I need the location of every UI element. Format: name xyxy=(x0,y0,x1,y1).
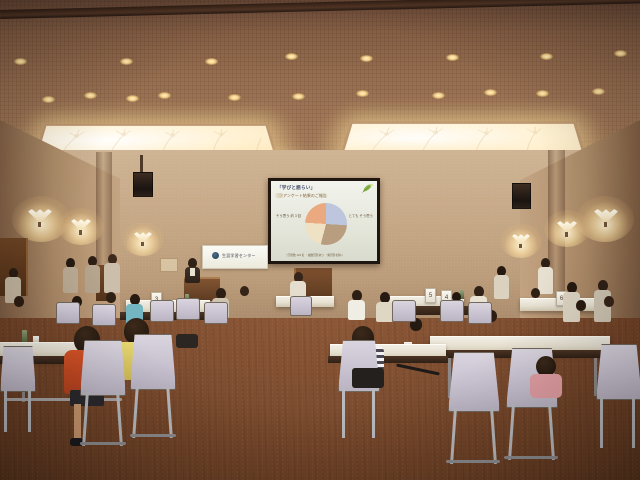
banquet-chair xyxy=(150,300,174,322)
sconce-stem xyxy=(38,222,41,227)
chair-frame xyxy=(4,388,7,432)
banquet-chair xyxy=(130,334,176,390)
banquet-chair xyxy=(56,302,80,324)
downlight xyxy=(84,92,97,99)
banquet-chair xyxy=(204,302,228,324)
seated-attendee-torso xyxy=(376,302,393,322)
downlight xyxy=(360,55,373,62)
banner-text: 生涯学習センター xyxy=(222,253,256,259)
chair-foot-rail xyxy=(446,460,500,463)
pie-chart xyxy=(305,203,347,245)
chair-frame xyxy=(28,388,31,432)
chair-foot-rail xyxy=(130,434,176,437)
banquet-chair xyxy=(176,298,200,320)
speaker-mount xyxy=(140,155,143,173)
seated-attendee-torso xyxy=(530,374,562,398)
chair-foot-rail xyxy=(504,456,558,459)
downlight xyxy=(484,89,497,96)
projection-screen[interactable]: 「学びと語らい」 アンケート結果のご報告 そう思う 約 3 割 とても そう思う… xyxy=(268,178,380,264)
downlight xyxy=(42,96,55,103)
seated-attendee-torso xyxy=(348,300,365,320)
right-wall-speaker xyxy=(512,183,531,209)
banquet-chair xyxy=(392,300,416,322)
slide-subtitle: アンケート結果のご報告 xyxy=(283,193,327,199)
chair-frame xyxy=(632,396,635,448)
table-leg xyxy=(594,358,597,396)
seated-attendee-head xyxy=(576,300,586,311)
sconce-stem xyxy=(79,230,82,235)
banquet-chair xyxy=(290,296,312,316)
downlight xyxy=(356,90,369,97)
downlight xyxy=(536,90,549,97)
standing-attendee-torso xyxy=(85,265,100,293)
chair-frame xyxy=(342,388,345,438)
standing-attendee-torso xyxy=(538,267,553,294)
pie-chart-disc xyxy=(305,203,347,245)
downlight xyxy=(446,54,459,61)
banquet-chair xyxy=(0,346,36,392)
presenter-shirt xyxy=(190,268,195,276)
banquet-chair xyxy=(80,340,126,396)
downlight xyxy=(285,53,298,60)
downlight xyxy=(228,94,241,101)
downlight xyxy=(592,88,605,95)
sconce-stem xyxy=(141,242,144,246)
projection-screen-surface: 「学びと語らい」 アンケート結果のご報告 そう思う 約 3 割 とても そう思う… xyxy=(271,181,377,261)
banquet-chair xyxy=(468,302,492,324)
seated-attendee-head xyxy=(604,296,614,307)
seated-attendee-head xyxy=(106,292,116,303)
downlight xyxy=(126,95,139,102)
sconce-stem xyxy=(565,232,568,237)
slide-footnotes: ・回答数 123 名 ・複数回答あり ・無回答を除く xyxy=(285,254,344,258)
downlight xyxy=(158,92,171,99)
downlight xyxy=(14,58,27,65)
standing-attendee-torso xyxy=(104,263,120,293)
downlight xyxy=(540,53,553,60)
slide-bullet-shape xyxy=(275,193,283,198)
left-ceiling-speaker xyxy=(133,172,153,197)
downlight xyxy=(205,58,218,65)
standing-attendee-torso xyxy=(63,267,78,293)
attendee-leg xyxy=(74,404,81,440)
downlight xyxy=(120,58,133,65)
pie-label-right: とても そう思う xyxy=(349,214,373,218)
downlight xyxy=(292,93,305,100)
chair-frame xyxy=(600,396,603,448)
sconce-stem xyxy=(519,244,522,248)
stage-banner: 生涯学習センター xyxy=(202,245,268,269)
organization-logo-icon xyxy=(212,252,219,259)
seated-attendee-head xyxy=(14,296,24,307)
green-leaf-logo-icon xyxy=(360,183,374,194)
conference-hall-photo: 「学びと語らい」 アンケート結果のご報告 そう思う 約 3 割 とても そう思う… xyxy=(0,0,640,480)
equipment-bag xyxy=(176,334,198,348)
banquet-chair xyxy=(448,352,500,412)
slide-title: 「学びと語らい」 xyxy=(277,185,315,191)
equipment-bag xyxy=(352,368,384,388)
chair-frame xyxy=(372,388,375,438)
banquet-chair xyxy=(596,344,640,400)
table-number: 5 xyxy=(429,293,432,299)
standing-attendee-torso xyxy=(494,275,509,299)
banquet-chair xyxy=(92,304,116,326)
seated-attendee-head xyxy=(531,288,540,298)
wall-outlet-panel xyxy=(160,258,178,272)
sconce-stem xyxy=(604,222,607,227)
downlight xyxy=(432,92,445,99)
table-number-card: 5 xyxy=(425,288,436,303)
downlight xyxy=(614,50,627,57)
seated-attendee-head xyxy=(240,286,249,296)
pie-label-left: そう思う 約 3 割 xyxy=(276,214,301,218)
table-foot-rail xyxy=(6,398,122,401)
chair-foot-rail xyxy=(80,442,126,445)
banquet-chair xyxy=(440,300,464,322)
